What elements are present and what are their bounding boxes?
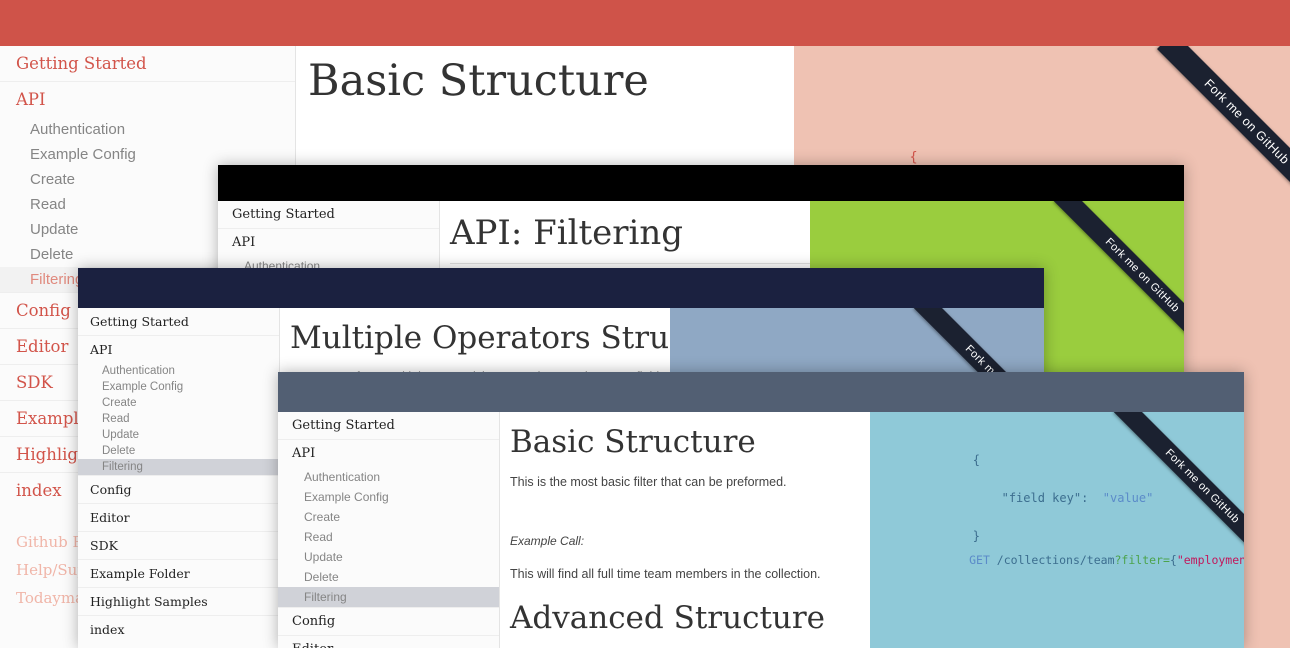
fork-me-on-github-ribbon[interactable]: Fork me on GitHub [1034, 201, 1184, 351]
sidebar-item-update[interactable]: Update [278, 547, 499, 567]
sidebar-item-create[interactable]: Create [78, 395, 279, 411]
code-panel-slate: { "field key": "value" } GET /collection… [870, 412, 1244, 648]
window-header-navy [78, 268, 1044, 308]
sidebar-item-editor[interactable]: Editor [278, 636, 499, 648]
sidebar-item-example-config[interactable]: Example Config [0, 142, 295, 167]
window-header-slate [278, 372, 1244, 412]
sidebar-item-update[interactable]: Update [78, 427, 279, 443]
sidebar-item-delete[interactable]: Delete [278, 567, 499, 587]
sidebar-item-getting-started[interactable]: Getting Started [218, 201, 439, 229]
desktop-stage: Getting Started API Authentication Examp… [0, 0, 1290, 648]
sidebar-item-api[interactable]: API [278, 440, 499, 467]
sidebar-nav-navy[interactable]: Getting Started API Authentication Examp… [78, 308, 280, 648]
sidebar-item-getting-started[interactable]: Getting Started [278, 412, 499, 440]
sidebar-item-authentication[interactable]: Authentication [78, 363, 279, 379]
sidebar-item-filtering[interactable]: Filtering [78, 459, 279, 476]
sidebar-item-example-folder[interactable]: Example Folder [78, 560, 279, 588]
page-title: API: Filtering [450, 213, 683, 253]
intro-paragraph: This is the most basic filter that can b… [510, 475, 787, 489]
sidebar-item-create[interactable]: Create [278, 507, 499, 527]
sidebar-item-api[interactable]: API [218, 229, 439, 256]
example-call-label: Example Call: [510, 534, 584, 548]
page-title: Basic Structure [510, 424, 756, 460]
sidebar-item-filtering[interactable]: Filtering [278, 587, 499, 608]
sidebar-item-authentication[interactable]: Authentication [278, 467, 499, 487]
sidebar-item-sdk[interactable]: SDK [78, 532, 279, 560]
sidebar-nav-slate[interactable]: Getting Started API Authentication Examp… [278, 412, 500, 648]
sidebar-item-api[interactable]: API [78, 336, 279, 363]
sidebar-item-highlight-samples[interactable]: Highlight Samples [78, 588, 279, 616]
sidebar-item-index[interactable]: index [78, 616, 279, 643]
content-area-slate: Basic Structure This is the most basic f… [500, 412, 1244, 648]
section-title-advanced: Advanced Structure [510, 600, 825, 636]
window-header-red [0, 0, 1290, 46]
sidebar-item-read[interactable]: Read [78, 411, 279, 427]
code-block-request: GET /collections/team?filter={"employmen… [886, 532, 1244, 589]
sidebar-item-config[interactable]: Config [278, 608, 499, 636]
sidebar-item-editor[interactable]: Editor [78, 504, 279, 532]
sidebar-item-authentication[interactable]: Authentication [0, 117, 295, 142]
sidebar-item-example-config[interactable]: Example Config [78, 379, 279, 395]
sidebar-item-getting-started[interactable]: Getting Started [0, 46, 295, 82]
sidebar-item-api[interactable]: API [0, 82, 295, 117]
code-block-advanced: { [886, 640, 980, 648]
browser-window-basic-structure-slate[interactable]: Getting Started API Authentication Examp… [278, 372, 1244, 648]
page-title: Basic Structure [308, 56, 649, 106]
window-header-green [218, 165, 1184, 201]
sidebar-item-delete[interactable]: Delete [78, 443, 279, 459]
fork-ribbon-label: Fork me on GitHub [1054, 201, 1184, 351]
sidebar-item-getting-started[interactable]: Getting Started [78, 308, 279, 336]
title-underline [450, 263, 820, 264]
result-paragraph: This will find all full time team member… [510, 567, 821, 581]
sidebar-item-config[interactable]: Config [78, 476, 279, 504]
sidebar-item-read[interactable]: Read [278, 527, 499, 547]
sidebar-item-example-config[interactable]: Example Config [278, 487, 499, 507]
